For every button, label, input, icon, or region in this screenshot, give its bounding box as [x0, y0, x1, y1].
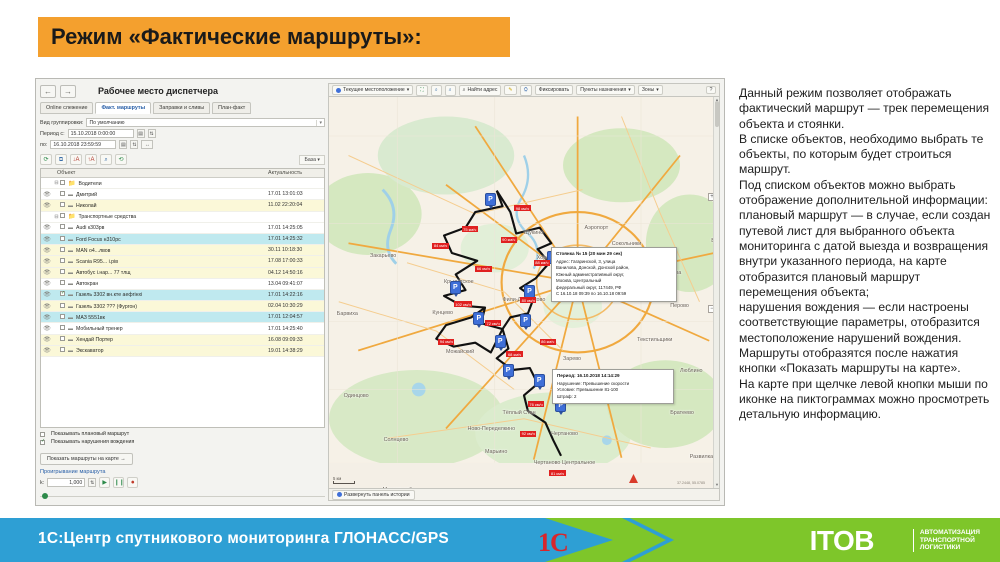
description-paragraph: Данный режим позволяет отображать фактич…	[739, 86, 997, 132]
vehicle-icon: ▬	[68, 225, 73, 231]
map-place-label: Ново-Переделкино	[467, 426, 515, 432]
object-name-cell: ▬Дмитрий	[60, 191, 268, 198]
object-name-cell: ▬Scania R95... і.рів	[60, 258, 268, 265]
objects-table-body: ⊟📁Водители👁▬Дмитрий17.01 13:01:03👁▬Никол…	[41, 178, 324, 357]
map-place-label: Зарево	[563, 356, 581, 362]
popup-header: Стоянка № 15 (20 мин 29 сек)	[556, 251, 672, 258]
row-checkbox[interactable]	[60, 224, 65, 229]
object-actuality-cell: 30.11 10:18:30	[268, 247, 324, 253]
zoom-out-icon[interactable]: ⌕	[445, 85, 456, 96]
speed-label[interactable]: 75 км/ч	[462, 226, 478, 232]
violation-info-popup: Период: 16.10.2018 14:14:29 Нарушение: П…	[552, 369, 674, 404]
map-vertical-scrollbar[interactable]: ▲ ▼	[713, 97, 719, 488]
speed-label[interactable]: 84 км/ч	[432, 243, 448, 249]
map-place-label: Солнцево	[384, 437, 409, 443]
visibility-eye-icon[interactable]: 👁	[41, 247, 53, 254]
map-place-label: Барвиха	[337, 311, 358, 317]
objects-table[interactable]: Объект Актуальность ⊟📁Водители👁▬Дмитрий1…	[40, 168, 325, 428]
object-name-label: Автобус і.нар... 77 тлщ	[76, 270, 131, 276]
map-place-label: Одинцово	[344, 393, 369, 399]
description-text: Данный режим позволяет отображать фактич…	[739, 86, 997, 423]
refresh-data-icon[interactable]: ⟳	[40, 154, 52, 165]
object-name-cell: ▬Хендай Портер	[60, 336, 268, 343]
map-place-label: Можайский	[446, 349, 474, 355]
object-name-label: Водители	[78, 181, 101, 187]
find-icon[interactable]: ⌕	[100, 154, 112, 165]
application-window-screenshot: ← → Рабочее место диспетчера Online слеж…	[35, 78, 725, 506]
tagline-line-1: АВТОМАТИЗАЦИЯ	[920, 529, 980, 537]
object-name-label: Николай	[76, 203, 97, 209]
description-paragraph: плановый маршрут — в случае, если создан…	[739, 208, 997, 300]
object-name-label: Ford Focus н310рс	[76, 237, 121, 243]
object-name-cell: ▬MAN о4...лвов	[60, 247, 268, 254]
onec-logo: 1C	[538, 528, 568, 558]
object-actuality-cell: 17.01 12:04:57	[268, 314, 324, 320]
object-actuality-cell: 11.02 22:20:04	[268, 202, 324, 208]
current-location-label: Текущее местоположение	[343, 87, 405, 93]
object-name-cell: ▬Газель 3302 вн.кте аефгінхі	[60, 291, 268, 298]
current-location-dropdown[interactable]: Текущее местоположение ▾	[332, 85, 413, 95]
left-pane: ← → Рабочее место диспетчера Online слеж…	[40, 83, 325, 501]
object-name-cell: ▬Газель 3302 ??? (Фургон)	[60, 303, 268, 310]
period-to-label: по:	[40, 142, 47, 148]
object-actuality-cell: 17.01 13:01:03	[268, 191, 324, 197]
search-icon: ⌕	[463, 87, 466, 94]
object-actuality-cell: 04.12 14:50:16	[268, 270, 324, 276]
stop-icon[interactable]: ⏺	[127, 477, 138, 488]
checkbox-show-planned-route[interactable]: Показывать плановый маршрут	[40, 431, 325, 437]
object-row[interactable]: 👁▬МАЗ 5551вк17.01 12:04:57	[41, 312, 324, 323]
object-name-cell: ▬МАЗ 5551вк	[60, 314, 268, 321]
speed-label[interactable]: 76 км/ч	[528, 401, 544, 407]
footer-banner: 1С:Центр спутникового мониторинга ГЛОНАС…	[0, 518, 1000, 562]
object-actuality-cell: 17.01 14:22:16	[268, 292, 324, 298]
period-from-row: Период с: 15.10.2018 0:00:00 ▤ ⇅	[40, 129, 325, 138]
speed-label[interactable]: 86 км/ч	[540, 339, 556, 345]
vehicle-icon: ▬	[68, 270, 73, 276]
vehicle-icon: ▬	[68, 304, 73, 310]
slide-title-band: Режим «Фактические маршруты»:	[38, 17, 510, 57]
tagline-line-3: ЛОГИСТИКИ	[920, 544, 980, 552]
description-paragraph: Под списком объектов можно выбрать отобр…	[739, 178, 997, 209]
visibility-eye-icon[interactable]: 👁	[41, 258, 53, 265]
speed-label[interactable]: 90 км/ч	[501, 237, 517, 243]
visibility-eye-icon[interactable]: 👁	[41, 325, 53, 332]
map-pane: Текущее местоположение ▾ ⛶ ⌕ ⌕ ⌕ Найти а…	[328, 83, 720, 501]
visibility-eye-icon[interactable]: 👁	[41, 191, 53, 198]
vehicle-icon: ▬	[68, 259, 73, 265]
object-name-label: Дмитрий	[76, 192, 97, 198]
bottom-controls: Показывать плановый маршрут Показывать н…	[40, 428, 325, 501]
playback-section-label: Проигрывание маршрута	[40, 469, 325, 475]
object-row[interactable]: 👁▬Николай11.02 22:20:04	[41, 200, 324, 211]
row-checkbox[interactable]	[60, 202, 65, 207]
visibility-eye-icon[interactable]: 👁	[41, 347, 53, 354]
scrollbar-thumb[interactable]	[715, 101, 719, 127]
chevron-down-icon: ▾	[407, 87, 410, 93]
object-actuality-cell: 17.01 14:25:40	[268, 326, 324, 332]
object-group-row[interactable]: ⊟📁Транспортные средства	[41, 212, 324, 223]
reload-icon[interactable]: ⟲	[115, 154, 127, 165]
period-from-input[interactable]: 15.10.2018 0:00:00	[68, 129, 134, 138]
help-button[interactable]: ?	[706, 86, 716, 94]
object-name-label: Scania R95... і.рів	[76, 259, 118, 265]
visibility-eye-icon[interactable]: 👁	[41, 291, 53, 298]
copy-icon[interactable]: ⧉	[55, 154, 67, 165]
forward-button[interactable]: →	[60, 85, 76, 98]
object-name-label: Экскаватор	[76, 348, 103, 354]
slider-knob[interactable]	[42, 493, 48, 499]
row-checkbox[interactable]	[60, 247, 65, 252]
object-name-label: Газель 3302 ??? (Фургон)	[76, 304, 137, 310]
visibility-eye-icon[interactable]: 👁	[41, 236, 53, 243]
parking-marker-icon[interactable]: P	[534, 374, 545, 387]
visibility-eye-icon[interactable]: 👁	[41, 202, 53, 209]
map-place-label: Сокольники	[612, 241, 642, 247]
itob-logo: ITOB	[810, 525, 874, 557]
object-name-cell: ▬Мобильный тренер	[60, 325, 268, 332]
spinner-up-down-icon[interactable]: ⇅	[88, 478, 96, 487]
popup-line: С 16.10.18 09:39 по 16.10.18 09:59	[556, 291, 672, 298]
visibility-eye-icon[interactable]: 👁	[41, 269, 53, 276]
object-actuality-cell: 17.01 14:25:05	[268, 225, 324, 231]
checkbox-icon	[40, 432, 45, 437]
object-actuality-cell: 13.04 09:41:07	[268, 281, 324, 287]
expand-history-button[interactable]: Развернуть панель истории	[332, 490, 415, 500]
chevron-down-icon: ▾	[628, 87, 631, 93]
sort-desc-icon[interactable]: ↑A	[85, 154, 97, 165]
row-checkbox[interactable]	[60, 291, 65, 296]
row-checkbox[interactable]	[60, 191, 65, 196]
map-place-label: Развилка	[690, 454, 713, 460]
speed-label[interactable]: 98 км/ч	[514, 205, 530, 211]
row-checkbox[interactable]	[60, 258, 65, 263]
period-from-label: Период с:	[40, 131, 65, 137]
speed-label[interactable]: 102 км/ч	[454, 301, 472, 307]
location-pin-icon	[336, 88, 341, 93]
tab-plan-fact[interactable]: План-факт	[212, 102, 251, 114]
object-row[interactable]: 👁▬Audi к303рв17.01 14:25:05	[41, 223, 324, 234]
row-checkbox[interactable]	[60, 213, 65, 218]
map-toolbar: Текущее местоположение ▾ ⛶ ⌕ ⌕ ⌕ Найти а…	[328, 83, 720, 97]
playback-slider[interactable]	[40, 492, 325, 501]
map-place-label: Люблино	[680, 368, 703, 374]
visibility-eye-icon[interactable]: 👁	[41, 303, 53, 310]
row-checkbox[interactable]	[60, 269, 65, 274]
scroll-down-arrow-icon[interactable]: ▼	[714, 482, 720, 488]
fit-to-screen-icon[interactable]: ⛶	[416, 85, 428, 96]
object-row[interactable]: 👁▬Ford Focus н310рс17.01 14:25:32	[41, 234, 324, 245]
find-address-label: Найти адрес	[467, 87, 497, 93]
track-icon[interactable]: ⛭	[520, 85, 532, 96]
visibility-eye-icon[interactable]: 👁	[41, 314, 53, 321]
object-name-label: Audi к303рв	[76, 225, 104, 231]
grouping-select[interactable]: По умолчанию ▾	[86, 118, 325, 127]
map-place-label: Братеево	[670, 410, 694, 416]
map-place-label: Щукино	[524, 230, 543, 236]
parking-marker-icon[interactable]: P	[524, 285, 535, 298]
form-title: Рабочее место диспетчера	[98, 86, 218, 96]
parking-marker-icon[interactable]: P	[450, 281, 461, 294]
row-checkbox[interactable]	[60, 347, 65, 352]
object-actuality-cell: 17.08 17:00:33	[268, 258, 324, 264]
map-place-label: Чертаново	[551, 431, 578, 437]
parking-marker-icon[interactable]: P	[473, 312, 484, 325]
object-actuality-cell: 19.01 14:38:29	[268, 348, 324, 354]
speed-label[interactable]: 68 км/ч	[506, 351, 522, 357]
object-row[interactable]: 👁▬Scania R95... і.рів17.08 17:00:33	[41, 256, 324, 267]
vehicle-icon: ▬	[68, 281, 73, 287]
description-paragraph: В списке объектов, необходимо выбрать те…	[739, 132, 997, 178]
object-name-cell: ▬Ford Focus н310рс	[60, 236, 268, 243]
play-icon[interactable]: ▶	[99, 477, 110, 488]
folder-icon: 📁	[68, 214, 75, 220]
destinations-label: Пункты назначения	[580, 87, 626, 93]
object-row[interactable]: 👁▬MAN о4...лвов30.11 10:18:30	[41, 245, 324, 256]
vehicle-icon: ▬	[68, 192, 73, 198]
vehicle-icon: ▬	[68, 203, 73, 209]
sort-asc-icon[interactable]: ↓A	[70, 154, 82, 165]
period-range-icon[interactable]: ↔	[141, 140, 153, 149]
vehicle-icon: ▬	[68, 237, 73, 243]
scale-bar-graphic	[333, 481, 355, 484]
tab-bar: Online слежение Факт. маршруты Заправки …	[40, 102, 325, 114]
folder-icon: 📁	[68, 181, 75, 187]
parking-marker-icon[interactable]: P	[503, 364, 514, 377]
object-name-label: Мобильный тренер	[76, 326, 123, 332]
map-scale-label: 5 км	[333, 476, 341, 481]
visibility-eye-icon[interactable]: 👁	[41, 336, 53, 343]
navigation-row: ← → Рабочее место диспетчера	[40, 83, 325, 99]
row-checkbox[interactable]	[60, 336, 65, 341]
ruler-icon[interactable]: ✎	[504, 85, 516, 95]
map-place-label: Московский	[383, 487, 413, 489]
map-place-label: Аэропорт	[584, 225, 608, 231]
playback-controls: k: 1,000 ⇅ ▶ ❙❙ ⏺	[40, 477, 325, 488]
period-to-row: по: 16.10.2018 23:59:59 ▤ ⇅ ↔	[40, 140, 325, 149]
vehicle-icon: ▬	[68, 337, 73, 343]
parking-marker-icon[interactable]: P	[485, 193, 496, 206]
pause-icon[interactable]: ❙❙	[113, 477, 124, 488]
object-name-cell: ▬Николай	[60, 202, 268, 209]
popup-line: Штраф: 2	[557, 394, 669, 401]
object-name-cell: ▬Автобус і.нар... 77 тлщ	[60, 269, 268, 276]
base-selector[interactable]: База ▾	[299, 155, 325, 165]
tab-actual-routes[interactable]: Факт. маршруты	[95, 102, 151, 114]
checkbox-label: Показывать нарушения вождения	[51, 439, 134, 445]
map-place-label: Тёплый Стан	[503, 410, 536, 416]
show-routes-button[interactable]: Показать маршруты на карте →	[40, 453, 133, 465]
map-place-label: Перово	[670, 303, 689, 309]
object-row[interactable]: 👁▬Мобильный тренер17.01 14:25:40	[41, 323, 324, 334]
row-checkbox[interactable]	[60, 236, 65, 241]
map-place-label: Марьино	[485, 449, 507, 455]
object-name-label: Автокран	[76, 281, 98, 287]
vehicle-icon: ▬	[68, 248, 73, 254]
object-row[interactable]: 👁▬Хендай Портер16.08 09:09:33	[41, 335, 324, 346]
object-row[interactable]: 👁▬Газель 3302 ??? (Фургон)02.04 10:30:29	[41, 301, 324, 312]
object-name-cell: ▬Экскаватор	[60, 347, 268, 354]
spinner-up-down-icon[interactable]: ⇅	[130, 140, 138, 149]
visibility-eye-icon[interactable]: 👁	[41, 224, 53, 231]
expander-icon[interactable]: ⊟	[53, 180, 60, 186]
zones-label: Зоны	[642, 87, 654, 93]
object-row[interactable]: 👁▬Дмитрий17.01 13:01:03	[41, 189, 324, 200]
back-button[interactable]: ←	[40, 85, 56, 98]
grouping-label: Вид группировки:	[40, 120, 83, 126]
period-to-input[interactable]: 16.10.2018 23:59:59	[50, 140, 116, 149]
row-checkbox[interactable]	[60, 180, 65, 185]
calendar-icon[interactable]: ▤	[119, 140, 127, 149]
object-row[interactable]: 👁▬Автокран13.04 09:41:07	[41, 279, 324, 290]
object-name-label: MAN о4...лвов	[76, 248, 110, 254]
column-header-actuality: Актуальность	[268, 170, 324, 176]
grouping-value: По умолчанию	[89, 120, 124, 126]
k-value-input[interactable]: 1,000	[47, 478, 85, 487]
map-scale-bar: 5 км	[333, 476, 355, 484]
speed-label[interactable]: 81 км/ч	[549, 470, 565, 476]
parking-marker-icon[interactable]: P	[520, 314, 531, 327]
history-panel-bar: Развернуть панель истории	[328, 489, 720, 501]
zoom-in-icon[interactable]: ⌕	[431, 85, 442, 96]
map-canvas[interactable]: МоскваОдинцовоМосковскийНово-Переделкино…	[328, 97, 720, 489]
map-place-label: Кунцево	[432, 310, 453, 316]
object-actuality-cell: 17.01 14:25:32	[268, 236, 324, 242]
row-checkbox[interactable]	[60, 303, 65, 308]
speed-label[interactable]: 72 км/ч	[485, 320, 501, 326]
popup-line: Период: 16.10.2018 14:14:29	[557, 373, 669, 380]
grouping-row: Вид группировки: По умолчанию ▾	[40, 118, 325, 127]
map-coordinates: 37.2448, 55.0785	[677, 481, 705, 485]
object-name-label: МАЗ 5551вк	[76, 315, 105, 321]
expander-icon[interactable]: ⊟	[53, 214, 60, 220]
object-row[interactable]: 👁▬Экскаватор19.01 14:38:29	[41, 346, 324, 357]
map-place-label: Чертаново Центральное	[534, 460, 596, 466]
page-title: Режим «Фактические маршруты»:	[51, 24, 422, 50]
speed-label[interactable]: 66 км/ч	[475, 266, 491, 272]
expand-history-label: Развернуть панель истории	[344, 492, 410, 498]
list-toolbar: ⟳ ⧉ ↓A ↑A ⌕ ⟲ База ▾	[40, 154, 325, 165]
row-checkbox[interactable]	[60, 325, 65, 330]
speed-label[interactable]: 92 км/ч	[520, 431, 536, 437]
zones-dropdown[interactable]: Зоны ▾	[638, 85, 663, 95]
vehicle-icon: ▬	[68, 348, 73, 354]
checkbox-label: Показывать плановый маршрут	[51, 431, 129, 437]
object-name-label: Хендай Портер	[76, 337, 113, 343]
itob-tagline: АВТОМАТИЗАЦИЯ ТРАНСПОРТНОЙ ЛОГИСТИКИ	[913, 529, 980, 552]
parking-marker-icon[interactable]: P	[495, 335, 506, 348]
speed-label[interactable]: 88 км/ч	[534, 260, 550, 266]
row-checkbox[interactable]	[60, 280, 65, 285]
object-name-cell: 📁Водители	[60, 180, 268, 187]
chevron-down-icon: ▾	[656, 87, 659, 93]
slider-track	[40, 496, 325, 497]
vehicle-icon: ▬	[68, 326, 73, 332]
map-place-label: Текстильщики	[637, 337, 672, 343]
tagline-line-2: ТРАНСПОРТНОЙ	[920, 537, 980, 545]
vehicle-icon: ▬	[68, 292, 73, 298]
violation-warning-icon[interactable]	[629, 474, 638, 483]
object-actuality-cell: 16.08 09:09:33	[268, 337, 324, 343]
object-name-cell: ▬Audi к303рв	[60, 224, 268, 231]
objects-table-header: Объект Актуальность	[41, 169, 324, 178]
map-place-label: Закарьево	[370, 253, 396, 259]
find-address-button[interactable]: ⌕ Найти адрес	[459, 85, 502, 96]
k-label: k:	[40, 480, 44, 486]
checkbox-show-violations[interactable]: Показывать нарушения вождения	[40, 439, 325, 445]
tab-online-tracking[interactable]: Online слежение	[40, 102, 93, 114]
object-actuality-cell: 02.04 10:30:29	[268, 303, 324, 309]
speed-label[interactable]: 94 км/ч	[438, 339, 454, 345]
calendar-icon[interactable]: ▤	[137, 129, 145, 138]
chevron-down-icon: ▾	[316, 120, 322, 126]
vehicle-icon: ▬	[68, 315, 73, 321]
object-name-label: Газель 3302 вн.кте аефгінхі	[76, 292, 142, 298]
object-group-row[interactable]: ⊟📁Водители	[41, 178, 324, 189]
parking-info-popup: Стоянка № 15 (20 мин 29 сек) Адрес: Гага…	[551, 247, 677, 302]
row-checkbox[interactable]	[60, 314, 65, 319]
object-row[interactable]: 👁▬Автобус і.нар... 77 тлщ04.12 14:50:16	[41, 268, 324, 279]
fix-button[interactable]: Фиксировать	[535, 85, 573, 95]
checkbox-icon	[40, 440, 45, 445]
column-header-object: Объект	[41, 170, 268, 176]
spinner-up-down-icon[interactable]: ⇅	[148, 129, 156, 138]
object-name-label: Транспортные средства	[78, 214, 136, 220]
object-name-cell: 📁Транспортные средства	[60, 213, 268, 220]
object-row[interactable]: 👁▬Газель 3302 вн.кте аефгінхі17.01 14:22…	[41, 290, 324, 301]
description-paragraph: На карте при щелчке левой кнопки мыши по…	[739, 377, 997, 423]
visibility-eye-icon[interactable]: 👁	[41, 280, 53, 287]
destinations-dropdown[interactable]: Пункты назначения ▾	[576, 85, 635, 95]
object-name-cell: ▬Автокран	[60, 280, 268, 287]
expand-icon	[337, 492, 342, 497]
tab-refuel-drain[interactable]: Заправки и сливы	[153, 102, 210, 114]
footer-product-name: 1С:Центр спутникового мониторинга ГЛОНАС…	[38, 530, 449, 548]
speed-label[interactable]: 80 км/ч	[520, 297, 536, 303]
description-paragraph: нарушения вождения — если настроены соот…	[739, 300, 997, 376]
